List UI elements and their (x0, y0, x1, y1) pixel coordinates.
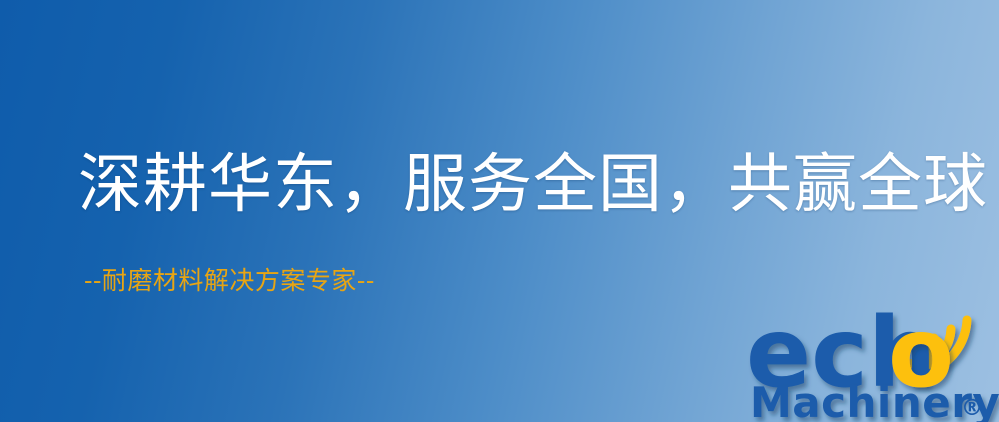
registered-trademark-icon: ® (961, 396, 983, 421)
banner-subtitle: --耐磨材料解决方案专家-- (84, 265, 375, 297)
banner-headline: 深耕华东，服务全国，共赢全球 (78, 146, 938, 224)
echo-machinery-logo[interactable]: ech o Machinery ® (748, 296, 999, 422)
promotional-banner: 深耕华东，服务全国，共赢全球 --耐磨材料解决方案专家-- ech o Mach… (0, 0, 999, 422)
